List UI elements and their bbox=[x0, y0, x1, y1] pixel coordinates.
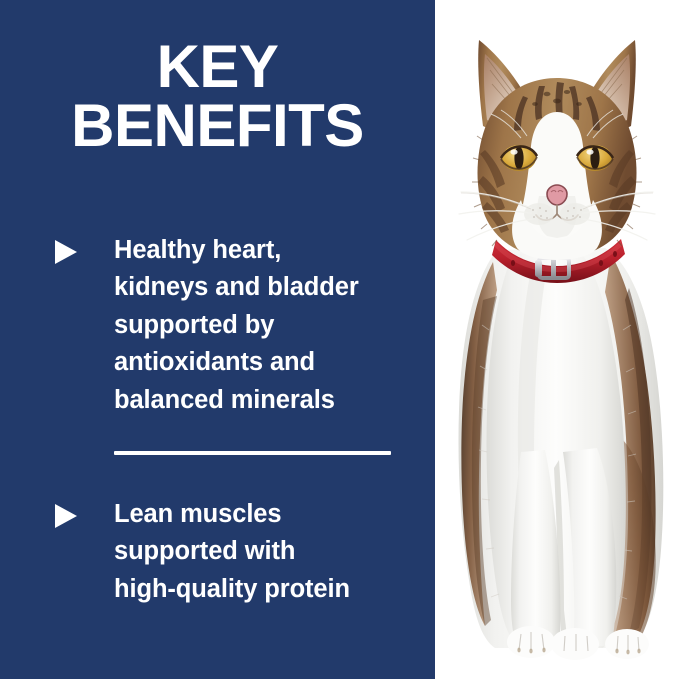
page-title-line-2: BENEFITS bbox=[0, 97, 435, 156]
benefit-item-1-text: Healthy heart, kidneys and bladder suppo… bbox=[114, 232, 359, 419]
benefit-item-2: Lean muscles supported with high-quality… bbox=[0, 496, 435, 608]
cat-paws bbox=[507, 626, 649, 660]
benefit-item-2-text: Lean muscles supported with high-quality… bbox=[114, 496, 350, 608]
benefit-item-1: Healthy heart, kidneys and bladder suppo… bbox=[0, 232, 435, 419]
cat-photo bbox=[435, 0, 679, 679]
divider bbox=[114, 451, 391, 455]
benefit-list-2: Lean muscles supported with high-quality… bbox=[0, 496, 435, 608]
triangle-right-icon bbox=[55, 504, 77, 528]
benefit-divider-wrap bbox=[0, 451, 435, 455]
benefit-list: Healthy heart, kidneys and bladder suppo… bbox=[0, 232, 435, 419]
triangle-right-icon bbox=[55, 240, 77, 264]
cat-nose bbox=[547, 185, 567, 205]
page-title-line-1: KEY bbox=[0, 38, 435, 97]
page-title: KEY BENEFITS bbox=[0, 38, 435, 156]
benefits-panel: KEY BENEFITS Healthy heart, kidneys and … bbox=[0, 0, 435, 679]
cat-body bbox=[458, 248, 663, 660]
promo-card: KEY BENEFITS Healthy heart, kidneys and … bbox=[0, 0, 679, 679]
